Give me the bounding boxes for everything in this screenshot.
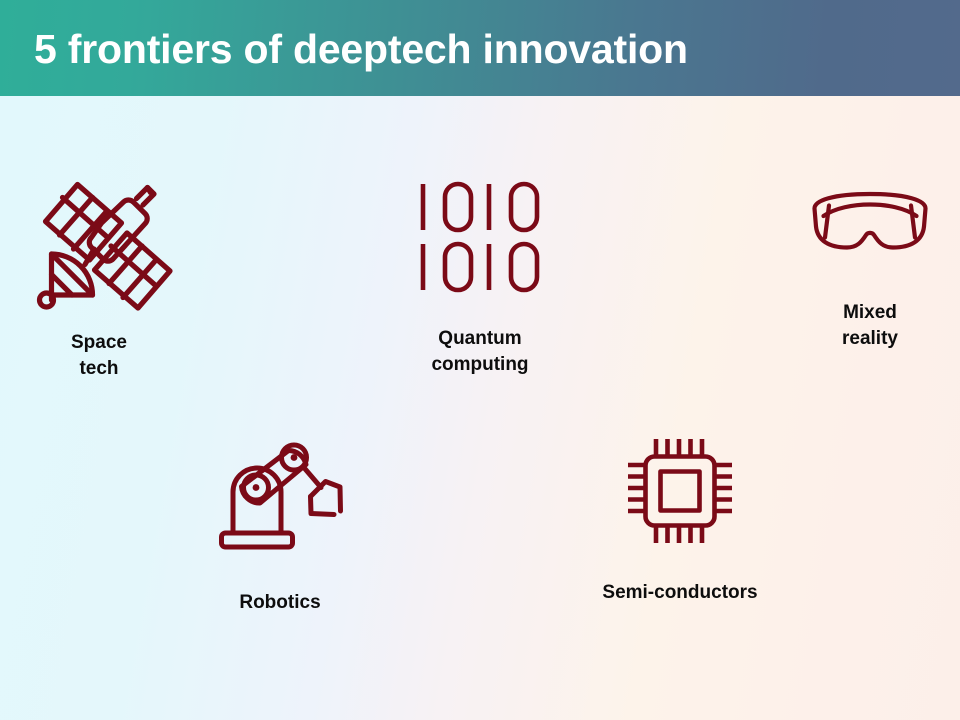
slide-canvas: 5 frontiers of deeptech innovation xyxy=(0,0,960,720)
robot-arm-icon xyxy=(198,440,362,550)
frontier-item-semi-conductors[interactable]: Semi-conductors xyxy=(572,432,788,606)
frontier-label-quantum-computing: Quantum computing xyxy=(394,326,566,378)
frontier-item-robotics[interactable]: Robotics xyxy=(198,440,362,616)
satellite-icon xyxy=(18,176,180,308)
binary-digits-icon xyxy=(394,176,566,298)
page-title: 5 frontiers of deeptech innovation xyxy=(34,26,688,72)
frontier-label-semi-conductors: Semi-conductors xyxy=(572,580,788,606)
microchip-icon xyxy=(572,432,788,552)
frontier-item-mixed-reality[interactable]: Mixed reality xyxy=(790,190,950,352)
frontier-label-mixed-reality: Mixed reality xyxy=(790,300,950,352)
frontier-label-robotics: Robotics xyxy=(198,590,362,616)
frontier-item-quantum-computing[interactable]: Quantum computing xyxy=(394,176,566,378)
vr-headset-icon xyxy=(790,190,950,262)
frontier-item-space-tech[interactable]: Space tech xyxy=(18,176,180,382)
title-bar: 5 frontiers of deeptech innovation xyxy=(0,0,960,96)
frontier-label-space-tech: Space tech xyxy=(18,330,180,382)
